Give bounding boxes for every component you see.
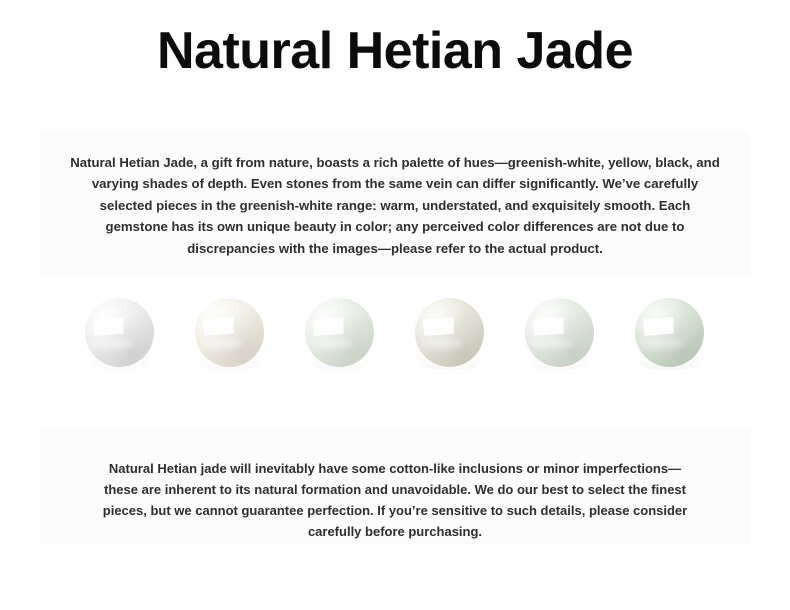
intro-panel: Natural Hetian Jade, a gift from nature,…: [40, 130, 750, 275]
page-header: Natural Hetian Jade: [0, 22, 790, 82]
intro-paragraph: Natural Hetian Jade, a gift from nature,…: [68, 152, 722, 259]
disclaimer-panel: Natural Hetian jade will inevitably have…: [40, 430, 750, 545]
jade-sphere-highlight: [203, 317, 234, 336]
jade-swatch-cell[interactable]: [305, 298, 375, 408]
page-title: Natural Hetian Jade: [0, 22, 790, 82]
jade-swatch-cell[interactable]: [195, 298, 265, 408]
jade-sphere-soft-highlight: [531, 338, 574, 349]
jade-sphere-highlight: [93, 317, 124, 336]
jade-sphere-soft-highlight: [201, 338, 244, 349]
product-info-page: Natural Hetian Jade Natural Hetian Jade,…: [0, 0, 790, 610]
jade-swatch-cell[interactable]: [415, 298, 485, 408]
jade-sphere-5[interactable]: [525, 298, 594, 367]
jade-sphere-1[interactable]: [85, 298, 154, 367]
jade-swatch-cell[interactable]: [635, 298, 705, 408]
jade-sphere-soft-highlight: [421, 338, 464, 349]
disclaimer-paragraph: Natural Hetian jade will inevitably have…: [100, 458, 690, 542]
jade-sphere-highlight: [313, 317, 344, 336]
jade-sphere-highlight: [643, 317, 674, 336]
jade-sphere-highlight: [423, 317, 454, 336]
jade-sphere-soft-highlight: [311, 338, 354, 349]
jade-sphere-soft-highlight: [91, 338, 134, 349]
jade-sphere-2[interactable]: [195, 298, 264, 367]
jade-sphere-highlight: [533, 317, 564, 336]
jade-swatch-cell[interactable]: [85, 298, 155, 408]
jade-color-swatch-row: [40, 298, 750, 418]
jade-sphere-soft-highlight: [641, 338, 684, 349]
jade-sphere-3[interactable]: [305, 298, 374, 367]
jade-swatch-cell[interactable]: [525, 298, 595, 408]
jade-sphere-4[interactable]: [415, 298, 484, 367]
jade-sphere-6[interactable]: [635, 298, 704, 367]
